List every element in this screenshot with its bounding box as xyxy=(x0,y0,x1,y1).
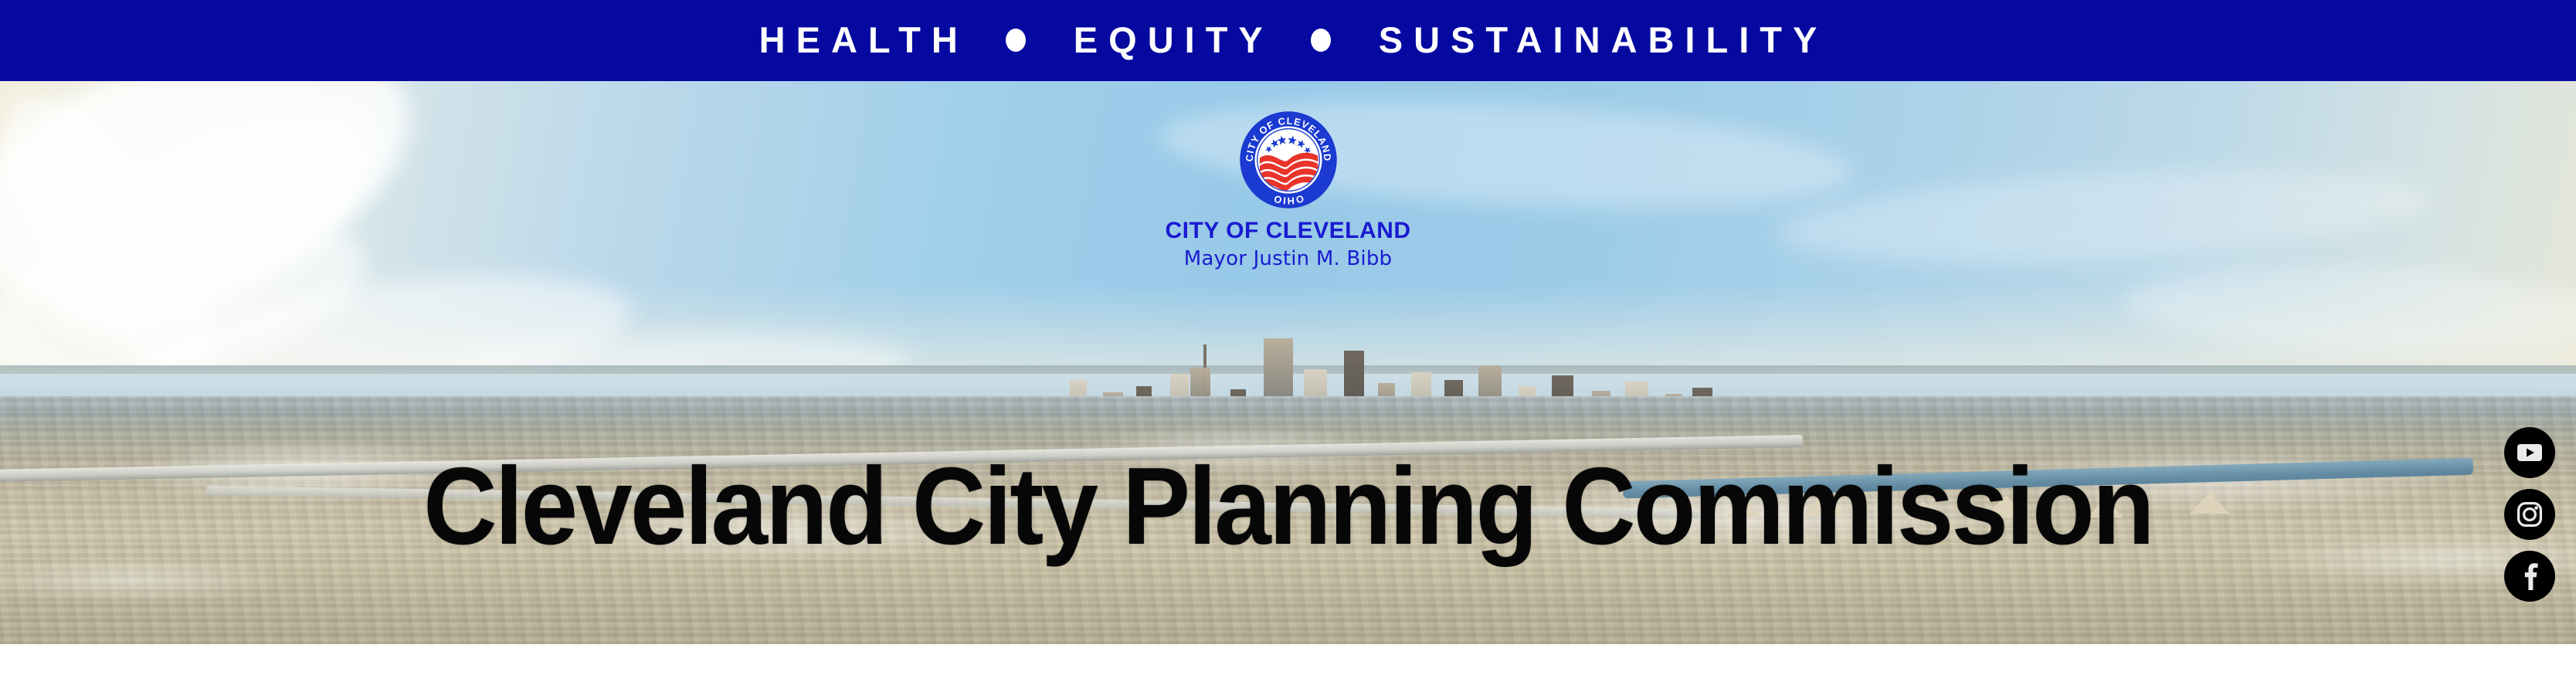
youtube-icon xyxy=(2514,437,2545,468)
city-branding-block: CITY OF CLEVELAND OHIO CITY OF CLEVELAND… xyxy=(1088,110,1489,270)
tagline-inner: HEALTH EQUITY SUSTAINABILITY xyxy=(748,22,1828,58)
bottom-white-strip xyxy=(0,644,2576,682)
tagline-word-health: HEALTH xyxy=(748,22,969,58)
social-link-instagram[interactable] xyxy=(2504,489,2555,540)
tagline-word-equity: EQUITY xyxy=(1063,22,1274,58)
social-media-rail xyxy=(2503,427,2557,602)
facebook-icon xyxy=(2514,561,2545,592)
tagline-banner: HEALTH EQUITY SUSTAINABILITY xyxy=(0,0,2576,81)
mayor-name-label: Mayor Justin M. Bibb xyxy=(1088,248,1489,270)
tagline-bullet-dot-1 xyxy=(1006,29,1026,52)
city-name-label: CITY OF CLEVELAND xyxy=(1088,219,1489,243)
tagline-word-sustainability: SUSTAINABILITY xyxy=(1368,22,1828,58)
tagline-bullet-dot-2 xyxy=(1311,29,1331,52)
instagram-icon xyxy=(2514,499,2545,530)
city-of-cleveland-seal-icon: CITY OF CLEVELAND OHIO xyxy=(1239,110,1338,209)
social-link-facebook[interactable] xyxy=(2504,551,2555,602)
social-link-youtube[interactable] xyxy=(2504,427,2555,478)
hero-banner: CITY OF CLEVELAND OHIO CITY OF CLEVELAND… xyxy=(0,81,2576,644)
page-title: Cleveland City Planning Commission xyxy=(90,452,2486,562)
